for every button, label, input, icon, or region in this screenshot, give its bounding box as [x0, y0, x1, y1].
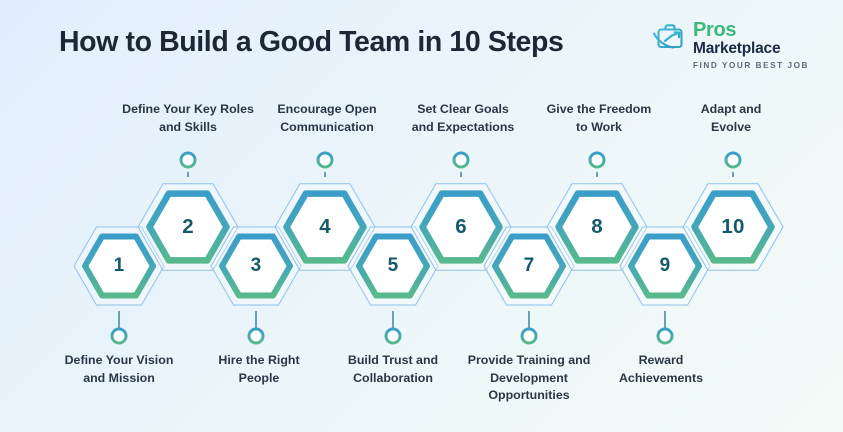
page-title: How to Build a Good Team in 10 Steps	[59, 26, 563, 59]
step-label-8: Give the Freedom to Work	[547, 101, 652, 136]
step-number-6: 6	[455, 215, 467, 239]
step-connector-9	[658, 311, 672, 343]
step-label-4: Encourage Open Communication	[277, 101, 376, 136]
step-number-1: 1	[114, 255, 125, 277]
step-connector-1	[112, 311, 126, 343]
step-label-9: Reward Achievements	[619, 352, 703, 387]
logo-tagline: FIND YOUR BEST JOB	[693, 61, 809, 70]
connector-ring	[249, 329, 263, 343]
connector-ring	[181, 153, 195, 167]
connector-ring	[726, 153, 740, 167]
connector-ring	[658, 329, 672, 343]
step-connector-4	[318, 153, 332, 177]
step-label-5: Build Trust and Collaboration	[348, 352, 438, 387]
step-number-3: 3	[251, 255, 262, 277]
step-label-7: Provide Training and Development Opportu…	[468, 352, 591, 405]
brand-logo[interactable]: Pros Marketplace FIND YOUR BEST JOB	[652, 20, 809, 70]
step-connector-8	[590, 153, 604, 177]
connector-ring	[386, 329, 400, 343]
step-connector-7	[522, 311, 536, 343]
step-number-4: 4	[319, 215, 331, 239]
header: How to Build a Good Team in 10 Steps	[0, 0, 843, 90]
connector-ring	[112, 329, 126, 343]
step-label-2: Define Your Key Roles and Skills	[122, 101, 254, 136]
step-label-6: Set Clear Goals and Expectations	[412, 101, 515, 136]
step-number-10: 10	[721, 215, 744, 239]
connector-ring	[590, 153, 604, 167]
step-label-10: Adapt and Evolve	[701, 101, 762, 136]
step-connector-5	[386, 311, 400, 343]
step-number-8: 8	[591, 215, 603, 239]
connector-ring	[318, 153, 332, 167]
step-connector-3	[249, 311, 263, 343]
connector-ring	[454, 153, 468, 167]
connector-ring	[522, 329, 536, 343]
briefcase-arrow-icon	[652, 22, 688, 59]
step-connector-2	[181, 153, 195, 177]
step-connector-6	[454, 153, 468, 177]
step-number-7: 7	[524, 255, 535, 277]
step-number-9: 9	[660, 255, 671, 277]
step-number-2: 2	[182, 215, 194, 239]
step-label-3: Hire the Right People	[218, 352, 299, 387]
logo-wordmark: Pros Marketplace FIND YOUR BEST JOB	[693, 20, 809, 70]
logo-name-primary: Pros	[693, 20, 809, 40]
logo-name-secondary: Marketplace	[693, 40, 809, 57]
step-number-5: 5	[388, 255, 399, 277]
step-label-1: Define Your Vision and Mission	[65, 352, 174, 387]
step-connector-10	[726, 153, 740, 177]
